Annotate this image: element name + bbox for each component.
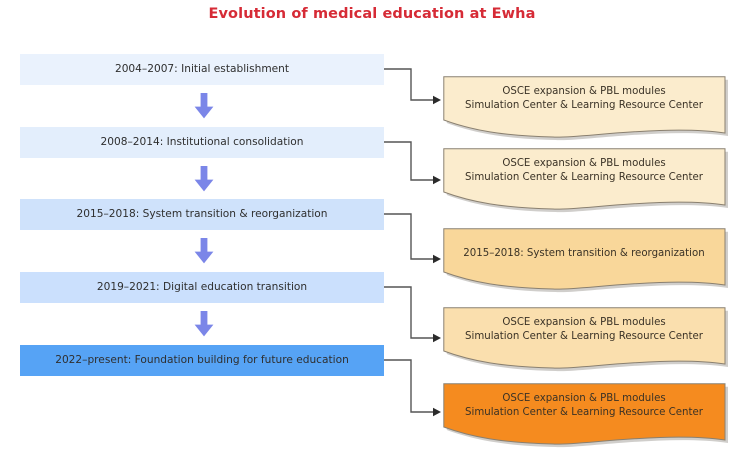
timeline-stage-box[interactable]: 2022–present: Foundation building for fu… — [20, 345, 384, 376]
timeline-stage-box[interactable]: 2019–2021: Digital education transition — [20, 272, 384, 303]
timeline-stage-label: 2019–2021: Digital education transition — [91, 281, 313, 294]
outcome-document[interactable]: OSCE expansion & PBL modulesSimulation C… — [443, 307, 725, 369]
diagram-canvas: Evolution of medical education at Ewha 2… — [0, 0, 744, 454]
stage-to-document-connector — [384, 69, 441, 104]
document-shape — [443, 307, 729, 373]
outcome-document[interactable]: 2015–2018: System transition & reorganiz… — [443, 228, 725, 290]
stage-to-document-connector — [384, 360, 441, 416]
stage-to-document-connector — [384, 287, 441, 342]
outcome-document[interactable]: OSCE expansion & PBL modulesSimulation C… — [443, 148, 725, 210]
timeline-stage-box[interactable]: 2008–2014: Institutional consolidation — [20, 127, 384, 158]
outcome-document[interactable]: OSCE expansion & PBL modulesSimulation C… — [443, 383, 725, 445]
timeline-stage-label: 2004–2007: Initial establishment — [109, 63, 295, 76]
stage-to-document-connector — [384, 214, 441, 263]
document-shape — [443, 76, 729, 142]
outcome-document[interactable]: OSCE expansion & PBL modulesSimulation C… — [443, 76, 725, 138]
timeline-stage-box[interactable]: 2004–2007: Initial establishment — [20, 54, 384, 85]
timeline-stage-label: 2008–2014: Institutional consolidation — [95, 136, 310, 149]
down-arrow-icon — [193, 166, 215, 192]
timeline-stage-box[interactable]: 2015–2018: System transition & reorganiz… — [20, 199, 384, 230]
document-shape — [443, 228, 729, 294]
down-arrow-icon — [193, 93, 215, 119]
document-shape — [443, 148, 729, 214]
timeline-stage-label: 2022–present: Foundation building for fu… — [49, 354, 355, 367]
timeline-stage-label: 2015–2018: System transition & reorganiz… — [70, 208, 333, 221]
page-title: Evolution of medical education at Ewha — [0, 6, 744, 22]
down-arrow-icon — [193, 311, 215, 337]
down-arrow-icon — [193, 238, 215, 264]
stage-to-document-connector — [384, 142, 441, 184]
document-shape — [443, 383, 729, 449]
